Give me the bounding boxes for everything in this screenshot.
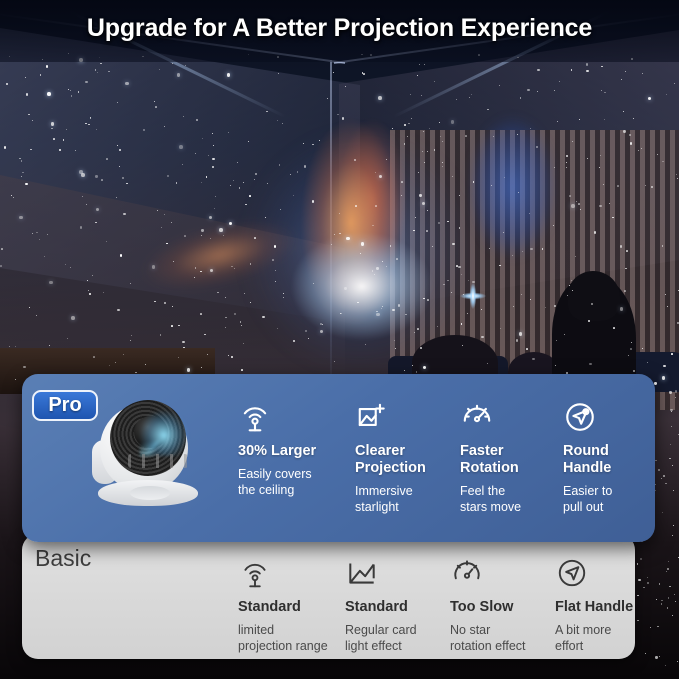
broadcast-signal-icon	[238, 400, 272, 434]
pro-feature-4-headline: Round Handle	[563, 443, 667, 477]
basic-feature-3: Too Slow No star rotation effect	[450, 556, 554, 654]
pro-feature-3-headline: Faster Rotation	[460, 443, 564, 477]
pro-tier-badge: Pro	[32, 390, 98, 421]
pro-projector-illustration	[82, 396, 212, 526]
pro-feature-4-sub: Easier to pull out	[563, 484, 667, 515]
page-title: Upgrade for A Better Projection Experien…	[0, 14, 679, 43]
product-feature-image: Upgrade for A Better Projection Experien…	[0, 0, 679, 679]
basic-feature-2: Standard Regular card light effect	[345, 556, 449, 654]
broadcast-signal-icon	[238, 556, 272, 590]
pro-feature-2-headline: Clearer Projection	[355, 443, 459, 477]
basic-feature-1: Standard limited projection range	[238, 556, 342, 654]
pro-feature-2-sub: Immersive starlight	[355, 484, 459, 515]
pro-feature-4: Round Handle Easier to pull out	[563, 400, 667, 515]
paper-plane-circle-icon	[555, 556, 589, 590]
speedometer-icon	[460, 400, 494, 434]
pro-device-buttons	[128, 454, 188, 468]
basic-feature-1-sub: limited projection range	[238, 623, 342, 654]
speedometer-slow-icon	[450, 556, 484, 590]
pro-feature-1-headline: 30% Larger	[238, 443, 344, 460]
basic-feature-3-headline: Too Slow	[450, 599, 554, 616]
pro-feature-1: 30% Larger Easily covers the ceiling	[238, 400, 344, 498]
basic-feature-4: Flat Handle A bit more effort	[555, 556, 659, 654]
image-plus-icon	[355, 400, 389, 434]
pro-device-light-beam	[140, 382, 232, 456]
basic-tier-label: Basic	[35, 545, 91, 572]
pro-feature-3: Faster Rotation Feel the stars move	[460, 400, 564, 515]
basic-feature-2-headline: Standard	[345, 599, 449, 616]
image-broken-icon	[345, 556, 379, 590]
basic-feature-3-sub: No star rotation effect	[450, 623, 554, 654]
basic-feature-2-sub: Regular card light effect	[345, 623, 449, 654]
basic-feature-4-headline: Flat Handle	[555, 599, 659, 616]
basic-feature-4-sub: A bit more effort	[555, 623, 659, 654]
paper-plane-circle-icon	[563, 400, 597, 434]
pro-device-round-handle	[130, 486, 170, 500]
pro-feature-3-sub: Feel the stars move	[460, 484, 564, 515]
pro-feature-2: Clearer Projection Immersive starlight	[355, 400, 459, 515]
basic-feature-1-headline: Standard	[238, 599, 342, 616]
pro-feature-1-sub: Easily covers the ceiling	[238, 467, 344, 498]
